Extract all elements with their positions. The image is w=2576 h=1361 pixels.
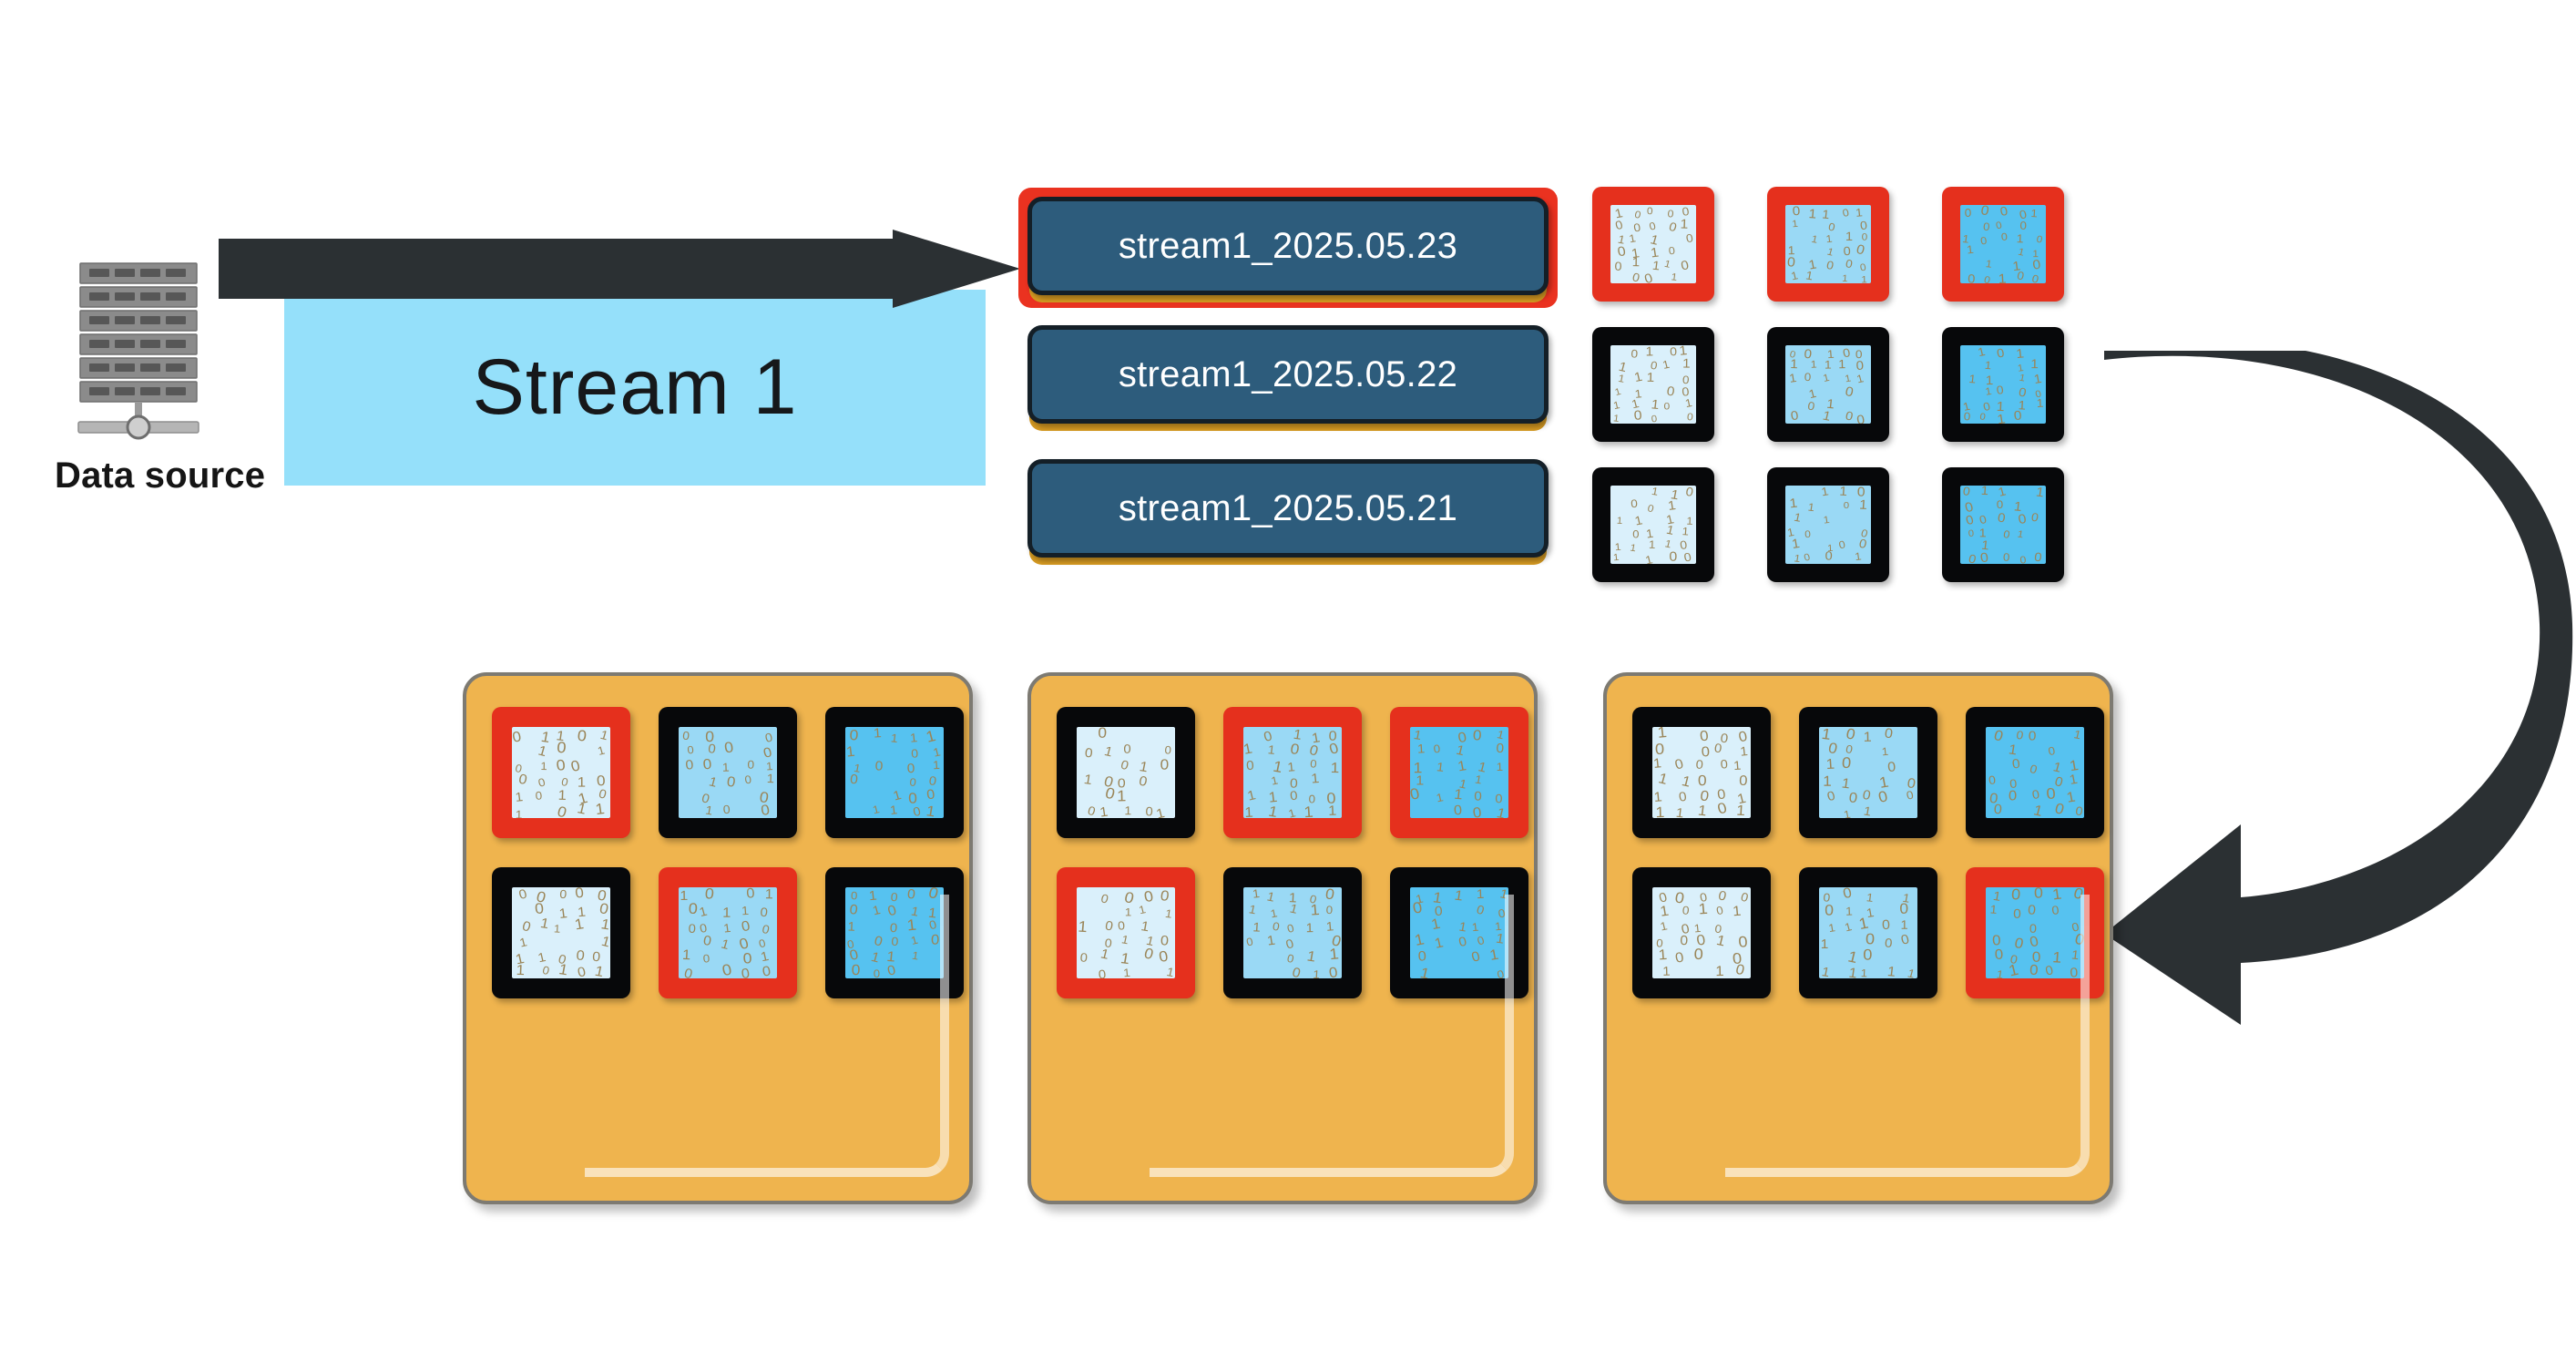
svg-text:1: 1 xyxy=(1287,761,1296,775)
svg-text:0: 0 xyxy=(707,742,716,757)
svg-text:1: 1 xyxy=(1864,730,1872,744)
tile-thumbnail: 100110101111111101100001 xyxy=(1410,727,1508,818)
svg-text:1: 1 xyxy=(680,888,688,903)
svg-text:1: 1 xyxy=(1821,937,1829,951)
server-rack-icon xyxy=(75,260,202,442)
svg-text:1: 1 xyxy=(1984,359,1992,372)
svg-text:0: 0 xyxy=(746,887,756,902)
svg-text:0: 0 xyxy=(1994,947,2003,963)
svg-text:1: 1 xyxy=(1901,917,1908,931)
svg-text:1: 1 xyxy=(1736,802,1746,818)
svg-text:0: 0 xyxy=(1786,255,1795,271)
svg-text:1: 1 xyxy=(1612,414,1620,424)
tile-thumbnail: 11000111110111111101100 xyxy=(1610,486,1696,564)
svg-text:0: 0 xyxy=(559,887,567,901)
svg-text:0: 0 xyxy=(1670,345,1677,358)
svg-text:1: 1 xyxy=(722,761,730,774)
svg-text:1: 1 xyxy=(1303,803,1314,818)
svg-text:0: 0 xyxy=(2028,903,2037,918)
svg-text:1: 1 xyxy=(1125,906,1132,918)
top-tile-grid: 1000000001111001100111000101101100111011… xyxy=(1592,187,2066,597)
svg-text:1: 1 xyxy=(1845,905,1853,918)
svg-text:1: 1 xyxy=(1789,496,1798,511)
svg-text:1: 1 xyxy=(767,772,775,786)
tile-thumbnail: 10111111111000101110010 xyxy=(1960,345,2046,424)
svg-text:0: 0 xyxy=(906,887,915,902)
svg-text:0: 0 xyxy=(576,948,586,964)
tile-thumbnail: 000000000101100100100 xyxy=(679,727,777,818)
svg-text:0: 0 xyxy=(1160,756,1169,773)
data-tile-4[interactable]: 10010111000100010010010000 xyxy=(659,867,797,998)
data-tile-2[interactable]: 0111110110010001001101 xyxy=(825,707,964,838)
svg-text:0: 0 xyxy=(682,729,690,742)
svg-text:0: 0 xyxy=(1720,757,1729,772)
svg-text:1: 1 xyxy=(1117,787,1127,804)
right-arrow-icon xyxy=(219,230,1020,308)
data-tile-1[interactable]: 0110110011101100010001111 xyxy=(1767,187,1889,302)
svg-text:1: 1 xyxy=(1989,903,1998,916)
svg-text:1: 1 xyxy=(1616,516,1622,527)
tile-thumbnail: 0101101111101100111011000 xyxy=(1610,345,1696,424)
svg-text:0: 0 xyxy=(1669,549,1677,564)
card-tile-grid: 0110110101000001010110101100000000010110… xyxy=(492,707,947,998)
svg-text:0: 0 xyxy=(1630,347,1638,361)
svg-text:1: 1 xyxy=(1675,806,1684,818)
svg-text:1: 1 xyxy=(1968,372,1977,385)
svg-text:1: 1 xyxy=(1632,256,1641,270)
svg-text:0: 0 xyxy=(1792,205,1800,219)
svg-text:1: 1 xyxy=(1825,756,1835,773)
dataset-card-2[interactable]: 0010001010000101101011011000011011011100… xyxy=(1027,672,1538,1204)
svg-text:0: 0 xyxy=(2010,887,2020,903)
tile-thumbnail: 11011011110011001001 xyxy=(1785,486,1871,564)
svg-text:1: 1 xyxy=(1078,917,1089,936)
svg-text:0: 0 xyxy=(1882,917,1891,933)
svg-text:1: 1 xyxy=(2052,948,2062,967)
svg-text:1: 1 xyxy=(1839,486,1847,499)
svg-text:1: 1 xyxy=(1682,526,1689,538)
data-tile-4[interactable]: 00100111101011110010100 xyxy=(1767,327,1889,442)
svg-text:0: 0 xyxy=(1899,900,1908,916)
svg-text:1: 1 xyxy=(1697,802,1708,818)
svg-text:1: 1 xyxy=(1823,773,1832,789)
svg-text:0: 0 xyxy=(1804,529,1811,540)
data-tile-3[interactable]: 00001111001011001100011 xyxy=(1057,867,1195,998)
svg-text:0: 0 xyxy=(688,922,696,936)
svg-text:0: 0 xyxy=(1651,414,1657,424)
svg-text:0: 0 xyxy=(849,727,859,743)
svg-text:0: 0 xyxy=(1246,759,1254,773)
svg-text:0: 0 xyxy=(1739,773,1748,789)
svg-text:1: 1 xyxy=(1658,947,1668,964)
svg-text:0: 0 xyxy=(704,887,715,903)
svg-text:0: 0 xyxy=(889,921,898,936)
svg-text:0: 0 xyxy=(1614,259,1622,272)
svg-text:0: 0 xyxy=(1996,384,2004,397)
tile-thumbnail: 0010001010000101101 xyxy=(1077,727,1175,818)
svg-text:1: 1 xyxy=(1732,904,1742,919)
svg-text:1: 1 xyxy=(1838,357,1846,371)
svg-text:1: 1 xyxy=(1613,552,1620,563)
tile-thumbnail: 00011000110001000010100 xyxy=(1986,727,2084,818)
data-tile-6[interactable]: 11000111110111111101100 xyxy=(1592,467,1714,582)
svg-text:1: 1 xyxy=(2030,207,2038,220)
svg-text:1: 1 xyxy=(1657,727,1668,742)
stream-label: Stream 1 xyxy=(284,290,986,486)
svg-text:1: 1 xyxy=(1715,964,1724,978)
svg-text:0: 0 xyxy=(1855,359,1864,374)
svg-text:0: 0 xyxy=(702,952,710,966)
svg-text:0: 0 xyxy=(2013,906,2021,921)
svg-text:0: 0 xyxy=(1698,773,1707,789)
svg-text:1: 1 xyxy=(1124,804,1131,817)
diagram-canvas: Data source Stream 1 stream1_2025.05.23 … xyxy=(0,0,2576,1361)
svg-text:1: 1 xyxy=(1646,371,1654,385)
tile-thumbnail: 00100111101011110010100 xyxy=(1785,345,1871,424)
svg-text:1: 1 xyxy=(1845,229,1854,242)
svg-text:0: 0 xyxy=(1680,934,1688,949)
svg-text:1: 1 xyxy=(1698,900,1709,918)
svg-text:1: 1 xyxy=(722,906,731,920)
svg-text:0: 0 xyxy=(574,887,584,901)
tile-thumbnail: 101000110011100000011 xyxy=(1819,727,1917,818)
svg-text:0: 0 xyxy=(687,743,695,756)
svg-text:1: 1 xyxy=(578,775,586,790)
data-tile-3[interactable]: 00000011001111111100010101 xyxy=(492,867,630,998)
tile-thumbnail: 01101101010000010101101011 xyxy=(512,727,610,818)
svg-text:0: 0 xyxy=(1098,967,1107,978)
svg-text:1: 1 xyxy=(1331,760,1340,776)
data-tile-2[interactable]: 100110101111111101100001 xyxy=(1390,707,1528,838)
data-tile-1[interactable]: 011011000011011011100011111 xyxy=(1223,707,1362,838)
svg-text:0: 0 xyxy=(1862,232,1868,242)
svg-text:0: 0 xyxy=(1310,758,1317,771)
data-tile-7[interactable]: 11011011110011001001 xyxy=(1767,467,1889,582)
svg-text:0: 0 xyxy=(1633,408,1642,424)
svg-text:0: 0 xyxy=(1417,949,1426,965)
svg-text:0: 0 xyxy=(556,738,567,756)
data-tile-0[interactable]: 100000011000111001000111101 xyxy=(1632,707,1771,838)
svg-text:0: 0 xyxy=(1825,548,1833,562)
svg-text:1: 1 xyxy=(1497,760,1504,773)
svg-text:0: 0 xyxy=(1632,528,1639,540)
svg-text:1: 1 xyxy=(540,760,547,773)
svg-text:1: 1 xyxy=(741,903,749,917)
svg-text:1: 1 xyxy=(1311,771,1320,786)
svg-text:1: 1 xyxy=(906,916,917,934)
stream-chip-row[interactable]: stream1_2025.05.23 xyxy=(1027,197,1549,299)
svg-text:1: 1 xyxy=(557,788,567,803)
card-tile-grid: 1000000110001110010001111011010001100111… xyxy=(1632,707,2088,998)
svg-text:0: 0 xyxy=(852,962,861,978)
dataset-card-3[interactable]: 1000000110001110010001111011010001100111… xyxy=(1603,672,2113,1204)
data-tile-5[interactable]: 10111111111000101110010 xyxy=(1942,327,2064,442)
tile-thumbnail: 11111000011111100100110 xyxy=(1410,887,1508,978)
svg-text:0: 0 xyxy=(874,759,883,774)
tile-thumbnail: 0110110011101100010001111 xyxy=(1785,205,1871,283)
svg-text:1: 1 xyxy=(1313,967,1320,978)
svg-text:0: 0 xyxy=(1863,946,1873,963)
svg-text:1: 1 xyxy=(1614,541,1621,553)
svg-text:0: 0 xyxy=(2013,409,2022,424)
svg-text:1: 1 xyxy=(682,947,691,963)
svg-text:1: 1 xyxy=(2016,347,2025,362)
svg-text:1: 1 xyxy=(1792,219,1799,230)
svg-text:0: 0 xyxy=(1118,919,1126,933)
svg-text:1: 1 xyxy=(873,727,882,741)
svg-text:1: 1 xyxy=(1733,758,1742,773)
svg-text:0: 0 xyxy=(874,967,880,978)
stream-chip-list: stream1_2025.05.23 stream1_2025.05.22 st… xyxy=(1027,197,1556,598)
svg-text:0: 0 xyxy=(2009,788,2018,803)
svg-text:1: 1 xyxy=(1810,358,1816,371)
svg-text:0: 0 xyxy=(742,950,752,967)
svg-text:1: 1 xyxy=(2030,358,2039,372)
svg-text:0: 0 xyxy=(1983,220,1990,233)
svg-text:1: 1 xyxy=(2036,396,2044,410)
svg-text:0: 0 xyxy=(1123,742,1131,757)
svg-text:1: 1 xyxy=(1123,966,1131,978)
stream-band: Stream 1 xyxy=(284,290,986,486)
svg-text:0: 0 xyxy=(688,899,698,917)
svg-text:0: 0 xyxy=(1993,802,2003,817)
svg-text:0: 0 xyxy=(1079,950,1089,965)
svg-text:0: 0 xyxy=(1841,753,1852,772)
stream-chip-row[interactable]: stream1_2025.05.21 xyxy=(1027,459,1549,561)
svg-text:1: 1 xyxy=(1855,206,1863,220)
svg-text:0: 0 xyxy=(577,727,588,744)
svg-text:1: 1 xyxy=(554,923,561,936)
svg-text:0: 0 xyxy=(1145,805,1153,818)
svg-text:0: 0 xyxy=(931,932,940,948)
svg-text:0: 0 xyxy=(1472,727,1482,743)
svg-text:1: 1 xyxy=(1825,358,1832,371)
svg-text:0: 0 xyxy=(1290,789,1299,803)
svg-text:0: 0 xyxy=(911,747,919,761)
svg-text:0: 0 xyxy=(747,758,754,772)
tile-thumbnail: 10010111000100010010010000 xyxy=(679,887,777,978)
svg-text:1: 1 xyxy=(1881,745,1889,758)
svg-text:0: 0 xyxy=(909,776,917,789)
data-tile-0[interactable]: 0010001010000101101 xyxy=(1057,707,1195,838)
svg-text:1: 1 xyxy=(868,888,877,904)
svg-text:0: 0 xyxy=(1682,373,1690,386)
svg-text:0: 0 xyxy=(1433,742,1441,755)
stream-chip-1[interactable]: stream1_2025.05.22 xyxy=(1027,325,1549,424)
data-tile-5[interactable]: 11111000011111100100110 xyxy=(1390,867,1528,998)
svg-text:1: 1 xyxy=(1861,275,1867,283)
svg-text:1: 1 xyxy=(1861,967,1868,978)
svg-text:0: 0 xyxy=(849,772,858,787)
data-tile-0[interactable]: 10000000011110011001110001 xyxy=(1592,187,1714,302)
svg-text:1: 1 xyxy=(2051,887,2062,903)
data-tile-5[interactable]: 1001010000000000001111000 xyxy=(1966,867,2104,998)
svg-text:1: 1 xyxy=(1645,345,1653,359)
svg-text:0: 0 xyxy=(1098,727,1107,742)
svg-text:1: 1 xyxy=(1808,208,1817,222)
tile-thumbnail: 0111110110010001001101 xyxy=(845,727,944,818)
svg-text:1: 1 xyxy=(1417,742,1426,757)
svg-text:0: 0 xyxy=(1474,790,1482,803)
tile-thumbnail: 01000010111010000100111000 xyxy=(845,887,944,978)
svg-text:0: 0 xyxy=(1647,207,1653,218)
svg-text:0: 0 xyxy=(1164,743,1171,757)
svg-text:0: 0 xyxy=(1825,902,1834,918)
svg-text:0: 0 xyxy=(534,900,545,917)
tile-thumbnail: 1110011110100110100011010 xyxy=(1243,887,1342,978)
svg-text:0: 0 xyxy=(760,906,769,920)
svg-text:1: 1 xyxy=(1471,920,1479,934)
stream-chip-row[interactable]: stream1_2025.05.22 xyxy=(1027,325,1549,427)
svg-text:1: 1 xyxy=(516,808,523,818)
svg-text:0: 0 xyxy=(702,755,712,773)
svg-text:1: 1 xyxy=(765,887,773,902)
svg-text:1: 1 xyxy=(1649,538,1656,551)
tile-thumbnail: 000010001001011111000100 xyxy=(1960,205,2046,283)
svg-text:1: 1 xyxy=(933,758,941,772)
svg-text:0: 0 xyxy=(1859,219,1867,232)
svg-text:1: 1 xyxy=(1979,527,1987,539)
svg-text:1: 1 xyxy=(1306,922,1314,936)
svg-text:0: 0 xyxy=(1454,803,1463,818)
tile-thumbnail: 10000000011110011001110001 xyxy=(1610,205,1696,283)
svg-text:0: 0 xyxy=(1695,757,1703,772)
stream-chip-2[interactable]: stream1_2025.05.21 xyxy=(1027,459,1549,558)
svg-text:0: 0 xyxy=(2046,784,2057,803)
svg-text:0: 0 xyxy=(1496,741,1504,756)
svg-text:1: 1 xyxy=(1680,217,1688,231)
tile-thumbnail: 1001010000000000001111000 xyxy=(1986,887,2084,978)
svg-text:1: 1 xyxy=(1244,804,1253,818)
tile-thumbnail: 00001111001011001100011 xyxy=(1077,887,1175,978)
svg-text:0: 0 xyxy=(2029,962,2039,978)
svg-text:0: 0 xyxy=(1968,528,1974,539)
tile-thumbnail: 0111001000000101100000 xyxy=(1960,486,2046,564)
svg-text:1: 1 xyxy=(1252,921,1261,936)
svg-text:0: 0 xyxy=(1693,945,1703,963)
svg-text:1: 1 xyxy=(1996,967,2005,978)
svg-text:0: 0 xyxy=(891,935,899,948)
svg-text:0: 0 xyxy=(906,762,915,776)
tile-thumbnail: 100000011000111001000111101 xyxy=(1652,727,1751,818)
svg-text:0: 0 xyxy=(1682,904,1690,917)
svg-text:0: 0 xyxy=(722,803,731,816)
svg-text:1: 1 xyxy=(1662,965,1671,978)
dataset-card-1[interactable]: 0110110101000001010110101100000000010110… xyxy=(463,672,973,1204)
data-tile-8[interactable]: 0111001000000101100000 xyxy=(1942,467,2064,582)
svg-text:1: 1 xyxy=(1847,966,1857,978)
svg-text:0: 0 xyxy=(1325,903,1333,916)
svg-text:0: 0 xyxy=(890,890,898,904)
data-tile-1[interactable]: 101000110011100000011 xyxy=(1799,707,1937,838)
svg-text:0: 0 xyxy=(1968,271,1976,283)
svg-text:0: 0 xyxy=(2019,219,2027,231)
svg-text:1: 1 xyxy=(1682,357,1691,371)
svg-text:0: 0 xyxy=(1997,497,2004,510)
svg-text:0: 0 xyxy=(1160,934,1170,949)
data-tile-2[interactable]: 00011000110001000010100 xyxy=(1966,707,2104,838)
svg-text:1: 1 xyxy=(1980,486,1988,498)
svg-text:0: 0 xyxy=(535,789,543,803)
svg-text:1: 1 xyxy=(1859,497,1868,513)
svg-text:0: 0 xyxy=(2003,551,2010,564)
card-tile-grid: 0010001010000101101011011000011011011100… xyxy=(1057,707,1512,998)
svg-text:0: 0 xyxy=(1804,370,1811,384)
svg-text:0: 0 xyxy=(1630,496,1638,510)
stream-chip-0[interactable]: stream1_2025.05.23 xyxy=(1027,197,1549,295)
tile-thumbnail: 001101101110110001011111 xyxy=(1819,887,1917,978)
svg-text:1: 1 xyxy=(1842,273,1848,283)
data-tile-3[interactable]: 0101101111101100111011000 xyxy=(1592,327,1714,442)
svg-text:1: 1 xyxy=(1740,744,1749,759)
svg-text:0: 0 xyxy=(1699,728,1709,744)
svg-text:1: 1 xyxy=(1886,965,1896,978)
svg-text:0: 0 xyxy=(1965,206,1972,219)
u-turn-arrow-icon xyxy=(2104,351,2576,1025)
svg-text:0: 0 xyxy=(1844,501,1849,511)
svg-text:1: 1 xyxy=(847,920,855,935)
svg-text:0: 0 xyxy=(1887,760,1897,775)
svg-text:0: 0 xyxy=(2034,887,2043,902)
svg-text:1: 1 xyxy=(2016,232,2023,246)
svg-text:1: 1 xyxy=(1477,887,1485,902)
data-tile-3[interactable]: 00000101011010000101000110 xyxy=(1632,867,1771,998)
svg-text:1: 1 xyxy=(1453,786,1463,803)
svg-text:0: 0 xyxy=(685,757,694,773)
data-tile-0[interactable]: 01101101010000010101101011 xyxy=(492,707,630,838)
data-tile-5[interactable]: 01000010111010000100111000 xyxy=(825,867,964,998)
svg-text:0: 0 xyxy=(1884,936,1892,951)
svg-text:1: 1 xyxy=(516,962,525,978)
svg-text:1: 1 xyxy=(1328,803,1337,818)
svg-text:1: 1 xyxy=(1310,901,1321,919)
svg-text:0: 0 xyxy=(1988,773,1996,787)
svg-text:0: 0 xyxy=(1843,243,1851,258)
data-tile-2[interactable]: 000010001001011111000100 xyxy=(1942,187,2064,302)
data-tile-1[interactable]: 000000000101100100100 xyxy=(659,707,797,838)
svg-text:1: 1 xyxy=(1790,358,1798,373)
svg-text:0: 0 xyxy=(1664,401,1671,412)
tile-thumbnail: 00000011001111111100010101 xyxy=(512,887,610,978)
svg-text:0: 0 xyxy=(1964,410,1971,424)
svg-text:0: 0 xyxy=(2029,729,2037,744)
svg-text:0: 0 xyxy=(851,890,858,903)
data-tile-4[interactable]: 001101101110110001011111 xyxy=(1799,867,1937,998)
svg-text:1: 1 xyxy=(1655,803,1664,818)
tile-thumbnail: 011011000011011011100011111 xyxy=(1243,727,1342,818)
svg-text:1: 1 xyxy=(1998,271,2007,283)
svg-text:0: 0 xyxy=(1495,792,1502,805)
svg-text:1: 1 xyxy=(1325,920,1334,935)
svg-text:0: 0 xyxy=(1084,746,1093,761)
svg-text:0: 0 xyxy=(2070,966,2079,978)
tile-thumbnail: 00000101011010000101000110 xyxy=(1652,887,1751,978)
data-tile-4[interactable]: 1110011110100110100011010 xyxy=(1223,867,1362,998)
